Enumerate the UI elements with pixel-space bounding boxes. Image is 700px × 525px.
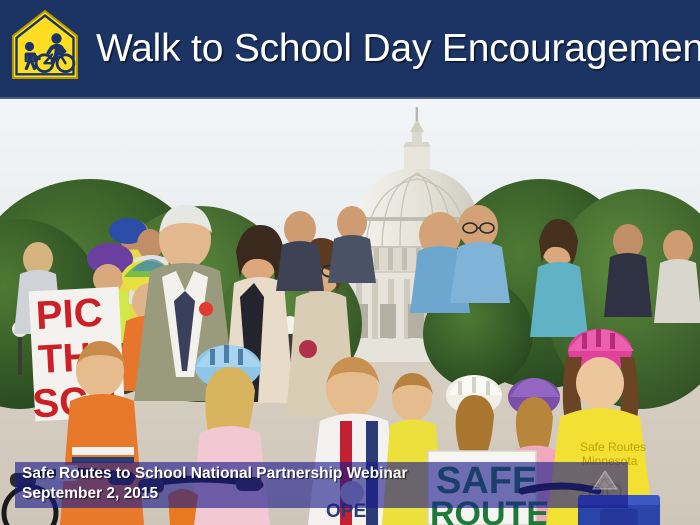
svg-text:PIC: PIC — [35, 291, 104, 338]
caption-line-2: September 2, 2015 — [22, 485, 158, 503]
caption-line-1: Safe Routes to School National Partnersh… — [22, 465, 408, 483]
page-title: Walk to School Day Encouragement — [96, 18, 700, 80]
svg-text:Safe Routes: Safe Routes — [580, 440, 646, 454]
school-crossing-sign-icon — [10, 9, 80, 81]
slide-root: Walk to School Day Encouragement — [0, 0, 700, 525]
triangle-up-icon — [590, 468, 620, 492]
slide-header-banner: Walk to School Day Encouragement — [0, 0, 700, 99]
